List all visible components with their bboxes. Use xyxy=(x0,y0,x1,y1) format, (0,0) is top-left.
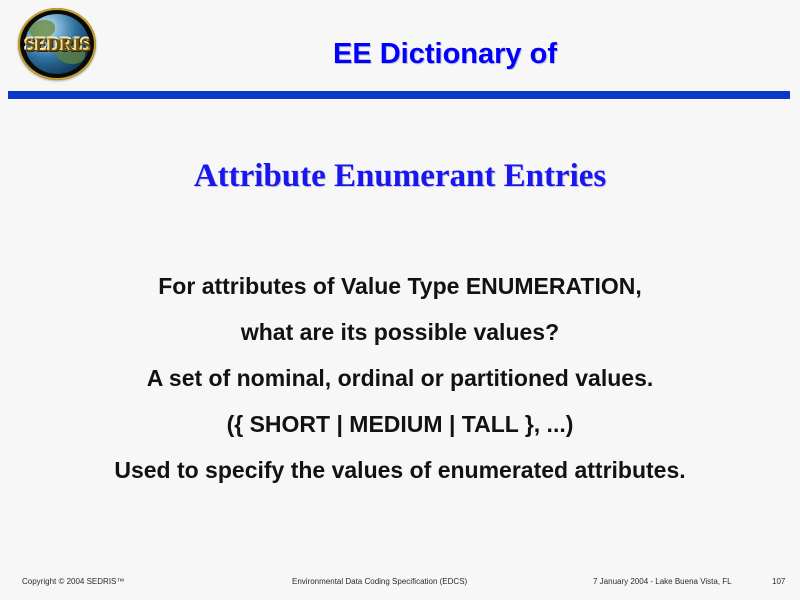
header-divider xyxy=(8,91,790,99)
body-line: A set of nominal, ordinal or partitioned… xyxy=(0,355,800,401)
body-line: For attributes of Value Type ENUMERATION… xyxy=(0,263,800,309)
footer-event: 7 January 2004 - Lake Buena Vista, FL xyxy=(593,577,732,586)
footer-copyright: Copyright © 2004 SEDRIS™ xyxy=(22,577,124,586)
slide: SEDRIS ™ EE Dictionary of Attribute Enum… xyxy=(0,0,800,600)
slide-content: Attribute Enumerant Entries For attribut… xyxy=(0,100,800,555)
slide-header: SEDRIS ™ EE Dictionary of xyxy=(0,0,800,100)
logo-trademark-icon: ™ xyxy=(84,48,90,54)
footer-spec-name: Environmental Data Coding Specification … xyxy=(292,577,467,586)
body-line: ({ SHORT | MEDIUM | TALL }, ...) xyxy=(0,401,800,447)
body-text-block: For attributes of Value Type ENUMERATION… xyxy=(0,263,800,493)
slide-footer: Copyright © 2004 SEDRIS™ Environmental D… xyxy=(0,570,800,600)
main-heading: Attribute Enumerant Entries xyxy=(0,158,800,195)
page-title: EE Dictionary of xyxy=(110,38,780,71)
sedris-logo: SEDRIS ™ xyxy=(18,8,96,80)
body-line: what are its possible values? xyxy=(0,309,800,355)
footer-page-number: 107 xyxy=(772,577,785,586)
body-line: Used to specify the values of enumerated… xyxy=(0,447,800,493)
